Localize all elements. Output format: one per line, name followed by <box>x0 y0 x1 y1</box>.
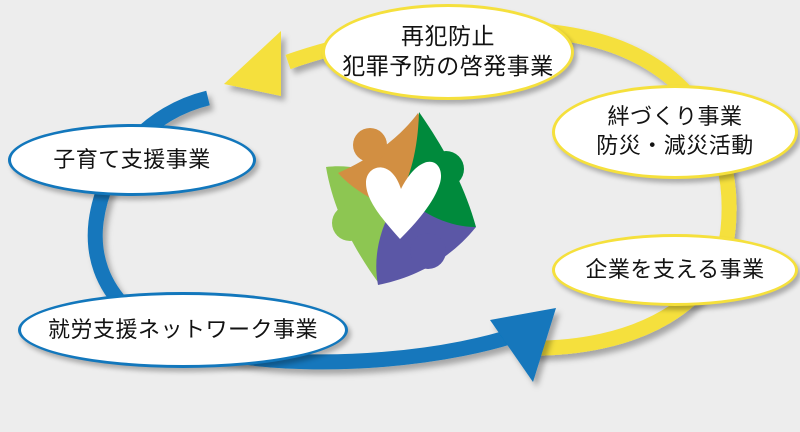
bubble-shuurou-line1: 就労支援ネットワーク事業 <box>48 316 318 345</box>
bubble-saihan-line1: 再犯防止 <box>401 22 495 52</box>
bubble-kigyou-line1: 企業を支える事業 <box>585 256 764 285</box>
people-star-heart-logo <box>318 105 488 285</box>
bubble-kizuna[interactable]: 絆づくり事業 防災・減災活動 <box>552 85 798 179</box>
bubble-shuurou[interactable]: 就労支援ネットワーク事業 <box>18 292 348 368</box>
bubble-kizuna-line2: 防災・減災活動 <box>596 132 754 161</box>
bubble-kosodate-line1: 子育て支援事業 <box>53 146 211 175</box>
logo-head-purple <box>410 233 446 269</box>
bubble-saihan-line2: 犯罪予防の啓発事業 <box>342 52 554 82</box>
bubble-kizuna-line1: 絆づくり事業 <box>607 103 742 132</box>
bubble-saihan[interactable]: 再犯防止 犯罪予防の啓発事業 <box>322 4 574 100</box>
bubble-kigyou[interactable]: 企業を支える事業 <box>552 234 798 306</box>
logo-head-light-green <box>332 205 368 241</box>
yellow-arrow-head <box>224 31 281 96</box>
diagram-canvas: 再犯防止 犯罪予防の啓発事業 絆づくり事業 防災・減災活動 企業を支える事業 子… <box>0 0 800 432</box>
bubble-kosodate[interactable]: 子育て支援事業 <box>8 124 256 196</box>
logo-head-orange <box>353 128 387 162</box>
